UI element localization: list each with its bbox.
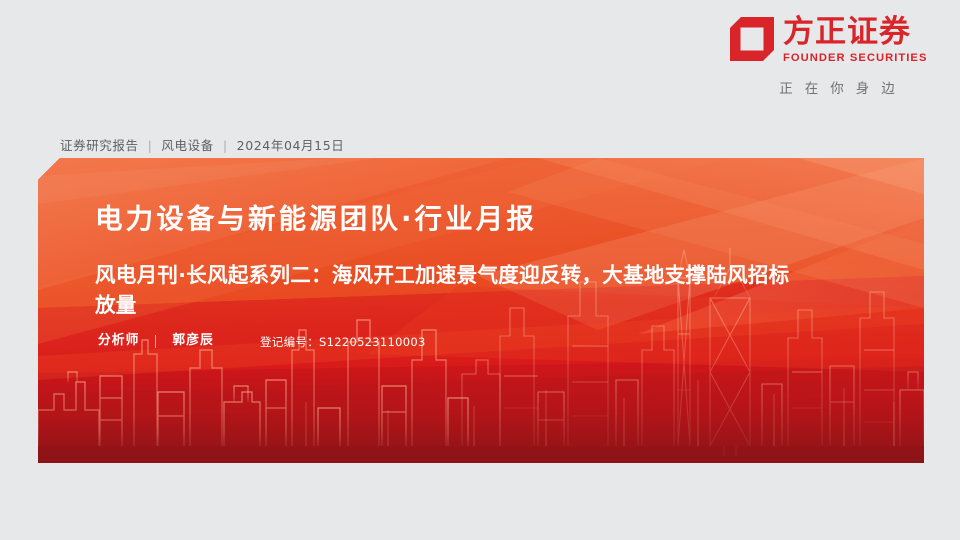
breadcrumb-separator-1: | [148, 138, 153, 153]
page-root: 方正证券 FOUNDER SECURITIES 正在你身边 证券研究报告|风电设… [0, 0, 960, 540]
breadcrumb-sector: 风电设备 [161, 138, 213, 153]
founder-securities-logo-mark-icon [730, 17, 774, 61]
brand-tagline: 正在你身边 [736, 80, 938, 98]
brand-name-en: FOUNDER SECURITIES [783, 51, 927, 65]
breadcrumb-report-type: 证券研究报告 [60, 138, 139, 153]
breadcrumb: 证券研究报告|风电设备|2024年04月15日 [60, 137, 344, 155]
page-header: 方正证券 FOUNDER SECURITIES 正在你身边 [0, 0, 960, 126]
breadcrumb-separator-2: | [223, 138, 228, 153]
brand-logo: 方正证券 FOUNDER SECURITIES 正在你身边 [730, 16, 938, 112]
report-cover-banner: 电力设备与新能源团队·行业月报 风电月刊·长风起系列二：海风开工加速景气度迎反转… [38, 158, 924, 463]
banner-background-graphic [38, 158, 924, 463]
logo-row: 方正证券 FOUNDER SECURITIES [730, 16, 927, 65]
logo-wordmark: 方正证券 FOUNDER SECURITIES [783, 16, 927, 65]
breadcrumb-date: 2024年04月15日 [237, 138, 345, 153]
brand-name-cn: 方正证券 [783, 16, 927, 49]
